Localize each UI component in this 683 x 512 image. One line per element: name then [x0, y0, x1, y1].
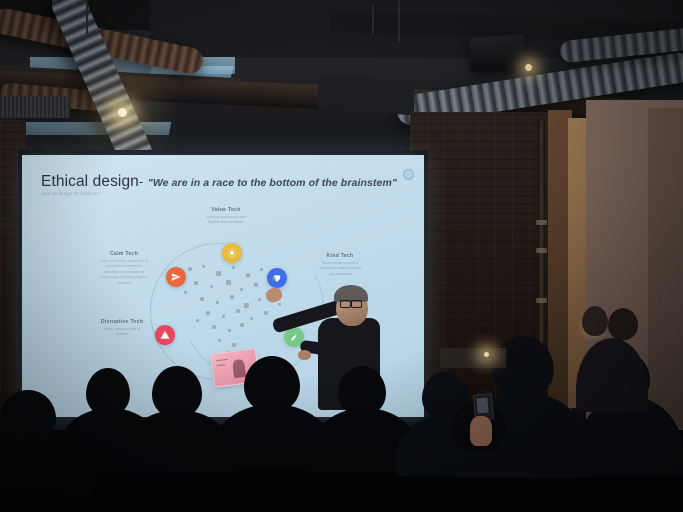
slide-title-text: Ethical design — [41, 173, 139, 190]
slide-title-dash: - — [139, 174, 143, 189]
hand-holding-phone — [470, 416, 492, 446]
slide-title: Ethical design- "We are in a race to the… — [41, 173, 397, 191]
sun-icon — [227, 248, 237, 258]
projector-lamp-glow — [525, 64, 532, 71]
card-figure — [232, 359, 246, 378]
label-calm-tech-heading: Calm Tech — [76, 251, 172, 257]
label-value-tech-heading: Value Tech — [180, 207, 272, 213]
pipe-ring-1 — [536, 220, 547, 225]
label-calm-tech-desc: Calm technology makes use of our periphe… — [76, 259, 172, 286]
hanger-rod-3 — [372, 4, 374, 34]
ceiling-spotlight — [118, 108, 127, 117]
leaf-icon — [289, 332, 299, 342]
pipe-ring-3 — [536, 298, 547, 303]
laptop-indicator-light — [484, 352, 489, 357]
projector — [469, 34, 526, 72]
presentation-room-photo: Ethical design- "We are in a race to the… — [0, 0, 683, 512]
node-value-tech[interactable] — [222, 243, 242, 263]
node-disruptive-tech[interactable] — [155, 325, 175, 345]
alert-icon — [160, 330, 170, 340]
slide-quote: "We are in a race to the bottom of the b… — [148, 177, 397, 189]
speaker-glasses-right — [351, 300, 362, 308]
card-line-2 — [217, 364, 226, 366]
speaker-hand-lower — [298, 350, 311, 360]
label-disruptive-tech-heading: Disruptive Tech — [72, 319, 172, 325]
card-line-1 — [216, 359, 228, 361]
label-kind-tech-heading: Kind Tech — [294, 253, 386, 259]
vertical-pipe — [538, 120, 545, 370]
speaker-glasses — [340, 300, 351, 308]
duct-box — [318, 75, 414, 116]
app-icon-scatter — [182, 263, 287, 358]
standing-attendee-head-1 — [582, 306, 608, 336]
slide-subtitle: Can we design for kindness? — [42, 191, 101, 196]
vent-grill — [0, 96, 70, 118]
label-kind-tech: Kind Tech Systems that support a connect… — [294, 253, 386, 277]
label-value-tech-desc: Systems that expose your highest self an… — [180, 215, 272, 226]
smartphone-screen — [476, 398, 488, 414]
side-table — [440, 348, 506, 368]
hanger-rod-2 — [398, 0, 400, 42]
pipe-ring-2 — [536, 248, 547, 253]
standing-attendee-head-2 — [608, 308, 638, 340]
hanger-rod-1 — [86, 0, 88, 34]
label-calm-tech: Calm Tech Calm technology makes use of o… — [76, 251, 172, 286]
label-value-tech: Value Tech Systems that expose your high… — [180, 207, 272, 226]
send-icon — [171, 272, 181, 282]
right-wall-edge — [648, 108, 683, 428]
label-kind-tech-desc: Systems that support a connection toward… — [294, 261, 386, 277]
circle-logo-icon — [403, 169, 414, 180]
skylight-panel-3 — [24, 122, 171, 135]
